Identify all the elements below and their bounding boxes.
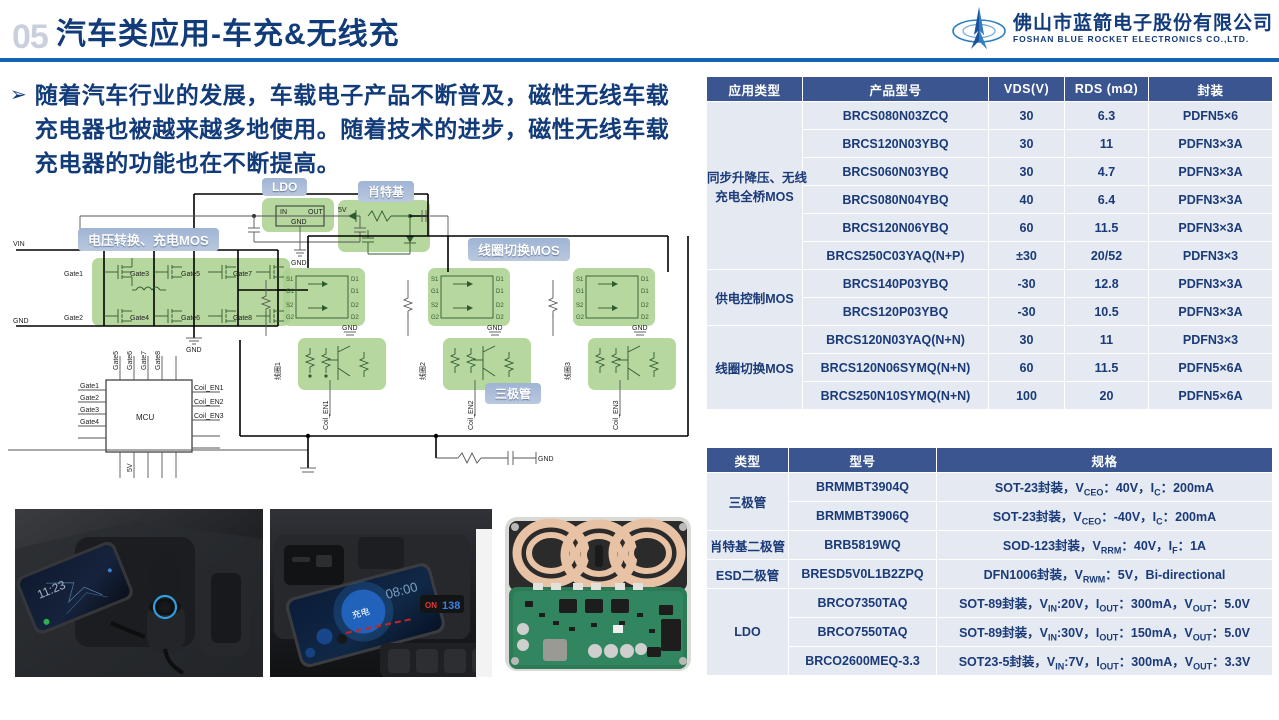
vds-cell: 30 — [989, 158, 1065, 186]
rds-cell: 10.5 — [1065, 298, 1149, 326]
category-cell: 供电控制MOS — [707, 270, 803, 326]
col-header-model: 型号 — [789, 448, 937, 473]
category-cell: ESD二极管 — [707, 560, 789, 589]
intro-bullet: ➢ 随着汽车行业的发展，车载电子产品不断普及，磁性无线车载充电器也被越来越多地使… — [10, 78, 690, 180]
svg-text:G1: G1 — [286, 289, 295, 295]
package-cell: PDFN3×3A — [1149, 214, 1273, 242]
svg-text:Gate4: Gate4 — [80, 419, 99, 426]
model-cell: BRCS120N06SYMQ(N+N) — [803, 354, 989, 382]
model-cell: BRMMBT3906Q — [789, 502, 937, 531]
rds-cell: 11.5 — [1065, 354, 1149, 382]
diagram-callout-ldo: LDO — [262, 178, 307, 196]
model-cell: BRCO7350TAQ — [789, 589, 937, 618]
svg-text:IN: IN — [280, 209, 287, 216]
vds-cell: -30 — [989, 270, 1065, 298]
svg-text:S1: S1 — [286, 277, 294, 283]
rds-cell: 11.5 — [1065, 214, 1149, 242]
spec-cell: SOT-89封装，VIN:20V，IOUT：300mA，VOUT：5.0V — [937, 589, 1273, 618]
svg-text:Gate6: Gate6 — [127, 351, 134, 370]
package-cell: PDFN5×6 — [1149, 102, 1273, 130]
table-row: BRMMBT3906QSOT-23封装，VCEO：-40V，IC：200mA — [707, 502, 1273, 531]
svg-text:Gate8: Gate8 — [233, 315, 252, 322]
vds-cell: 30 — [989, 102, 1065, 130]
title-divider — [0, 58, 1279, 62]
col-header-rds: RDS (mΩ) — [1065, 77, 1149, 102]
vds-cell: -30 — [989, 298, 1065, 326]
model-cell: BRB5819WQ — [789, 531, 937, 560]
svg-text:Gate2: Gate2 — [80, 395, 99, 402]
svg-text:D2: D2 — [351, 315, 359, 321]
table-row: BRCO2600MEQ-3.3SOT23-5封装，VIN:7V，IOUT：300… — [707, 647, 1273, 676]
model-cell: BRCO2600MEQ-3.3 — [789, 647, 937, 676]
logo-company-en: FOSHAN BLUE ROCKET ELECTRONICS CO.,LTD. — [1013, 34, 1273, 45]
svg-text:5V: 5V — [338, 207, 347, 214]
wireless-charger-pcb-photo — [499, 509, 701, 677]
svg-text:GND: GND — [487, 325, 503, 332]
col-header-vds: VDS(V) — [989, 77, 1065, 102]
circuit-schematic-svg: .w{stroke:#000;stroke-width:1.6;fill:non… — [8, 180, 698, 490]
diagram-callout-schottky: 肖特基 — [358, 181, 414, 202]
rds-cell: 20/52 — [1065, 242, 1149, 270]
svg-text:Gate6: Gate6 — [181, 315, 200, 322]
svg-text:Gate7: Gate7 — [233, 271, 252, 278]
col-header-spec: 规格 — [937, 448, 1273, 473]
table-row: BRCO7550TAQSOT-89封装，VIN:30V，IOUT：150mA，V… — [707, 618, 1273, 647]
model-cell: BRMMBT3904Q — [789, 473, 937, 502]
svg-text:S2: S2 — [576, 303, 584, 309]
svg-text:ON: ON — [425, 601, 437, 610]
svg-text:Gate5: Gate5 — [113, 351, 120, 370]
package-cell: PDFN5×6A — [1149, 382, 1273, 410]
table-header-row: 应用类型 产品型号 VDS(V) RDS (mΩ) 封装 — [707, 77, 1273, 102]
diagram-callout-coil-switch-mos: 线圈切换MOS — [468, 238, 570, 261]
blue-rocket-logo-icon — [951, 5, 1007, 53]
category-cell: 肖特基二极管 — [707, 531, 789, 560]
svg-text:Gate1: Gate1 — [80, 383, 99, 390]
model-cell: BRCS120P03YBQ — [803, 298, 989, 326]
svg-text:G1: G1 — [576, 289, 585, 295]
svg-text:D2: D2 — [496, 303, 504, 309]
vds-cell: 100 — [989, 382, 1065, 410]
package-cell: PDFN3×3A — [1149, 298, 1273, 326]
spec-cell: SOT23-5封装，VIN:7V，IOUT：300mA，VOUT：3.3V — [937, 647, 1273, 676]
rds-cell: 12.8 — [1065, 270, 1149, 298]
rds-cell: 20 — [1065, 382, 1149, 410]
diagram-callout-voltage-mos: 电压转换、充电MOS — [78, 228, 219, 251]
package-cell: PDFN5×6A — [1149, 354, 1273, 382]
svg-text:GND: GND — [538, 456, 554, 463]
vds-cell: 30 — [989, 326, 1065, 354]
slide-number: 05 — [12, 20, 48, 54]
svg-text:G2: G2 — [286, 315, 295, 321]
svg-text:GND: GND — [342, 325, 358, 332]
svg-text:S1: S1 — [576, 277, 584, 283]
model-cell: BRCS140P03YBQ — [803, 270, 989, 298]
mos-products-table: 应用类型 产品型号 VDS(V) RDS (mΩ) 封装 同步升降压、无线充电全… — [706, 76, 1273, 410]
table-row: 三极管BRMMBT3904QSOT-23封装，VCEO：40V，IC：200mA — [707, 473, 1273, 502]
model-cell: BRCS120N03YAQ(N+N) — [803, 326, 989, 354]
svg-text:D1: D1 — [641, 277, 649, 283]
package-cell: PDFN3×3 — [1149, 242, 1273, 270]
svg-text:Gate8: Gate8 — [155, 351, 162, 370]
svg-text:Gate5: Gate5 — [181, 271, 200, 278]
spec-cell: SOT-23封装，VCEO：40V，IC：200mA — [937, 473, 1273, 502]
model-cell: BRCS060N03YBQ — [803, 158, 989, 186]
bullet-arrow-icon: ➢ — [10, 78, 27, 180]
svg-text:Coil_EN3: Coil_EN3 — [613, 400, 620, 430]
svg-text:S2: S2 — [286, 303, 294, 309]
package-cell: PDFN3×3A — [1149, 186, 1273, 214]
rds-cell: 4.7 — [1065, 158, 1149, 186]
svg-text:D1: D1 — [496, 289, 504, 295]
svg-text:GND: GND — [632, 325, 648, 332]
page-title: 汽车类应用-车充&无线充 — [56, 18, 400, 52]
svg-text:5V: 5V — [127, 463, 134, 472]
category-cell: 同步升降压、无线充电全桥MOS — [707, 102, 803, 270]
svg-text:D1: D1 — [351, 289, 359, 295]
package-cell: PDFN3×3A — [1149, 158, 1273, 186]
category-cell: LDO — [707, 589, 789, 676]
vds-cell: ±30 — [989, 242, 1065, 270]
intro-paragraph: 随着汽车行业的发展，车载电子产品不断普及，磁性无线车载充电器也被越来越多地使用。… — [35, 78, 675, 180]
table-row: 同步升降压、无线充电全桥MOSBRCS080N03ZCQ306.3PDFN5×6 — [707, 102, 1273, 130]
package-cell: PDFN3×3A — [1149, 130, 1273, 158]
svg-text:G2: G2 — [431, 315, 440, 321]
vds-cell: 60 — [989, 214, 1065, 242]
svg-text:Gate3: Gate3 — [130, 271, 149, 278]
package-cell: PDFN3×3 — [1149, 326, 1273, 354]
svg-text:D2: D2 — [641, 303, 649, 309]
slide-header: 05 汽车类应用-车充&无线充 佛山市蓝箭电子股份有限公司 FOSHAN BLU… — [0, 0, 1279, 62]
svg-text:Coil_EN1: Coil_EN1 — [194, 385, 224, 392]
diagram-callout-transistor: 三极管 — [485, 383, 541, 404]
svg-text:线圈3: 线圈3 — [563, 362, 572, 380]
col-header-application: 应用类型 — [707, 77, 803, 102]
circuit-diagram: .w{stroke:#000;stroke-width:1.6;fill:non… — [8, 180, 698, 490]
rds-cell: 6.4 — [1065, 186, 1149, 214]
svg-text:GND: GND — [291, 219, 307, 226]
rds-cell: 11 — [1065, 326, 1149, 354]
svg-text:D1: D1 — [351, 277, 359, 283]
spec-cell: SOT-23封装，VCEO：-40V，IC：200mA — [937, 502, 1273, 531]
svg-text:VIN: VIN — [13, 241, 25, 248]
rds-cell: 11 — [1065, 130, 1149, 158]
col-header-model: 产品型号 — [803, 77, 989, 102]
car-charger-phone-photo: 11:23 — [15, 509, 263, 677]
svg-text:138: 138 — [442, 600, 460, 612]
company-logo: 佛山市蓝箭电子股份有限公司 FOSHAN BLUE ROCKET ELECTRO… — [951, 4, 1273, 54]
svg-text:D2: D2 — [351, 303, 359, 309]
model-cell: BRCS250C03YAQ(N+P) — [803, 242, 989, 270]
table-row: 肖特基二极管BRB5819WQSOD-123封装，VRRM：40V，IF：1A — [707, 531, 1273, 560]
model-cell: BRCS080N04YBQ — [803, 186, 989, 214]
vds-cell: 40 — [989, 186, 1065, 214]
svg-text:D2: D2 — [641, 315, 649, 321]
svg-text:GND: GND — [291, 260, 307, 267]
svg-text:D1: D1 — [641, 289, 649, 295]
svg-text:D2: D2 — [496, 315, 504, 321]
spec-cell: SOD-123封装，VRRM：40V，IF：1A — [937, 531, 1273, 560]
svg-text:OUT: OUT — [308, 209, 324, 216]
table-row: LDOBRCO7350TAQSOT-89封装，VIN:20V，IOUT：300m… — [707, 589, 1273, 618]
discrete-products-table: 类型 型号 规格 三极管BRMMBT3904QSOT-23封装，VCEO：40V… — [706, 447, 1273, 676]
svg-text:S1: S1 — [431, 277, 439, 283]
logo-company-cn: 佛山市蓝箭电子股份有限公司 — [1013, 13, 1273, 34]
rds-cell: 6.3 — [1065, 102, 1149, 130]
svg-text:线圈1: 线圈1 — [273, 362, 282, 380]
svg-text:D1: D1 — [496, 277, 504, 283]
package-cell: PDFN3×3A — [1149, 270, 1273, 298]
svg-text:线圈2: 线圈2 — [418, 362, 427, 380]
category-cell: 三极管 — [707, 473, 789, 531]
svg-text:GND: GND — [186, 347, 202, 354]
svg-text:Gate3: Gate3 — [80, 407, 99, 414]
col-header-type: 类型 — [707, 448, 789, 473]
svg-text:S2: S2 — [431, 303, 439, 309]
svg-text:Coil_EN2: Coil_EN2 — [194, 399, 224, 406]
spec-cell: SOT-89封装，VIN:30V，IOUT：150mA，VOUT：5.0V — [937, 618, 1273, 647]
model-cell: BRCS120N06YBQ — [803, 214, 989, 242]
svg-text:G2: G2 — [576, 315, 585, 321]
table-row: 供电控制MOSBRCS140P03YBQ-3012.8PDFN3×3A — [707, 270, 1273, 298]
vds-cell: 60 — [989, 354, 1065, 382]
svg-text:Coil_EN3: Coil_EN3 — [194, 413, 224, 420]
table-header-row: 类型 型号 规格 — [707, 448, 1273, 473]
col-header-package: 封装 — [1149, 77, 1273, 102]
model-cell: BRCS250N10SYMQ(N+N) — [803, 382, 989, 410]
model-cell: BRCO7550TAQ — [789, 618, 937, 647]
spec-cell: DFN1006封装，VRWM：5V，Bi-directional — [937, 560, 1273, 589]
table-row: ESD二极管BRESD5V0L1B2ZPQDFN1006封装，VRWM：5V，B… — [707, 560, 1273, 589]
model-cell: BRCS120N03YBQ — [803, 130, 989, 158]
vds-cell: 30 — [989, 130, 1065, 158]
svg-text:G1: G1 — [431, 289, 440, 295]
svg-text:Gate7: Gate7 — [141, 351, 148, 370]
wireless-charging-console-photo: 充电 08:00 ON 138 — [270, 509, 492, 677]
table-row: 线圈切换MOSBRCS120N03YAQ(N+N)3011PDFN3×3 — [707, 326, 1273, 354]
svg-text:Gate1: Gate1 — [64, 271, 83, 278]
svg-text:Gate2: Gate2 — [64, 315, 83, 322]
svg-text:Gate4: Gate4 — [130, 315, 149, 322]
model-cell: BRESD5V0L1B2ZPQ — [789, 560, 937, 589]
svg-text:MCU: MCU — [136, 413, 154, 422]
svg-text:Coil_EN2: Coil_EN2 — [468, 400, 475, 430]
svg-text:Coil_EN1: Coil_EN1 — [323, 400, 330, 430]
model-cell: BRCS080N03ZCQ — [803, 102, 989, 130]
category-cell: 线圈切换MOS — [707, 326, 803, 410]
svg-text:GND: GND — [13, 318, 29, 325]
